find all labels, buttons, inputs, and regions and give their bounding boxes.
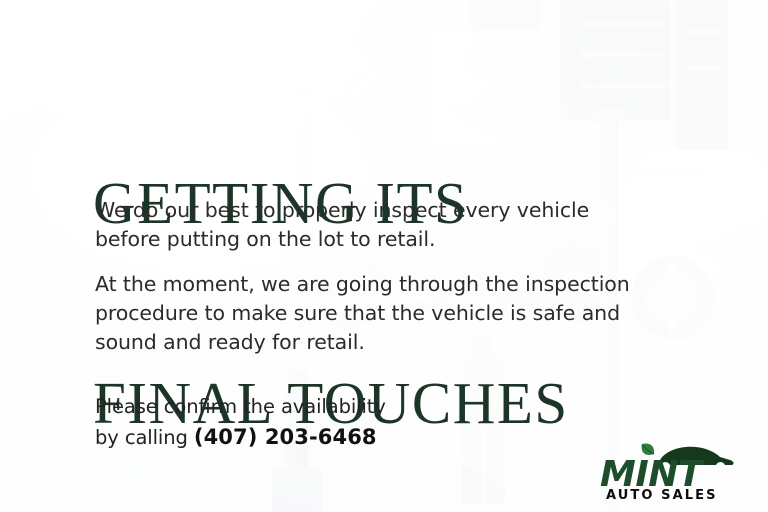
call-to-action: Please confirm the availability by calli… (95, 392, 386, 454)
phone-number[interactable]: (407) 203-6468 (194, 425, 377, 449)
card-content: GETTING ITS FINAL TOUCHES We do our best… (0, 0, 768, 512)
body-copy: We do our best to properly inspect every… (95, 196, 655, 358)
body-paragraph-1: We do our best to properly inspect every… (95, 196, 655, 254)
mint-auto-sales-logo[interactable]: MINT AUTO SALES (598, 440, 740, 502)
cta-prefix: by calling (95, 426, 194, 449)
cta-line-1: Please confirm the availability (95, 392, 386, 422)
cta-line-2: by calling (407) 203-6468 (95, 422, 386, 454)
logo-subtitle-text: AUTO SALES (606, 488, 718, 502)
promo-card: GETTING ITS FINAL TOUCHES We do our best… (0, 0, 768, 512)
body-paragraph-2: At the moment, we are going through the … (95, 270, 655, 357)
